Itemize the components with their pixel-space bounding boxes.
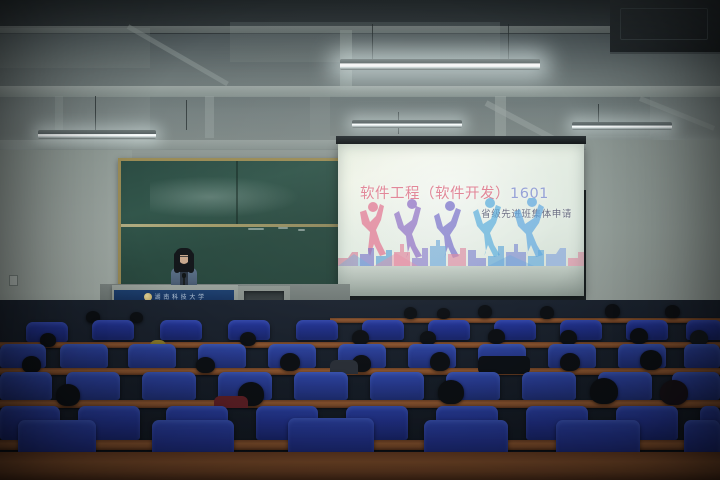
light-hanger-wire <box>372 24 373 62</box>
seat <box>370 372 424 400</box>
seat <box>92 320 134 340</box>
front-desk-surface <box>0 452 720 480</box>
light-hanger-wire <box>186 100 187 130</box>
ceiling-light <box>572 122 672 130</box>
light-hanger-wire <box>95 96 96 130</box>
audience-head <box>605 304 620 318</box>
air-conditioner-unit <box>610 0 720 54</box>
chalk-mark <box>278 227 288 229</box>
chalk-mark <box>298 229 305 231</box>
city-skyline-artwork <box>338 240 584 266</box>
light-hanger-wire <box>508 24 509 62</box>
chalk-tray <box>121 224 343 227</box>
seat <box>684 344 720 368</box>
audience-head <box>430 352 450 371</box>
ceiling-coffer <box>0 28 150 68</box>
audience-head <box>560 330 577 345</box>
audience-head <box>352 330 369 345</box>
blackboard-panel-seam <box>236 161 238 224</box>
ceiling-coffer <box>150 96 310 140</box>
ceiling-beam <box>0 86 720 97</box>
audience-head <box>196 357 215 373</box>
audience-head <box>540 306 554 319</box>
wall-switch[interactable] <box>9 275 18 286</box>
audience-head <box>22 356 41 373</box>
projector-screen-casing <box>336 136 586 144</box>
seat <box>522 372 576 400</box>
audience-head <box>404 307 417 319</box>
seat <box>128 344 176 368</box>
seat <box>160 320 202 340</box>
audience-head <box>280 353 300 371</box>
ceiling-beam <box>205 96 214 138</box>
audience-head <box>665 305 680 318</box>
ceiling-light <box>38 130 156 139</box>
classroom-photo: 软件工程（软件开发）1601 省级先进班集体申请 <box>0 0 720 480</box>
presenter-hair-left <box>174 252 180 273</box>
audience-head <box>478 305 492 318</box>
audience-head <box>56 384 80 406</box>
audience-head <box>420 331 436 345</box>
chalk-mark <box>248 228 264 230</box>
audience-head <box>438 380 464 404</box>
seat <box>142 372 196 400</box>
audience-head <box>488 329 505 344</box>
audience-head <box>660 380 688 405</box>
audience-head <box>437 308 450 319</box>
ceiling-light <box>340 59 540 70</box>
seat <box>60 344 108 368</box>
ceiling-light <box>352 120 462 128</box>
audience-head <box>640 350 662 370</box>
presenter-hair-right <box>188 252 194 273</box>
ceiling-beam <box>495 96 506 140</box>
seat <box>294 372 348 400</box>
projector-screen: 软件工程（软件开发）1601 省级先进班集体申请 <box>338 144 584 296</box>
audience-head <box>590 378 618 404</box>
blackboard-glare <box>150 176 300 218</box>
screen-lower-shadow <box>338 266 584 296</box>
seat <box>0 372 52 400</box>
audience-head <box>560 353 580 371</box>
audience-head <box>630 328 648 344</box>
seat <box>296 320 338 340</box>
